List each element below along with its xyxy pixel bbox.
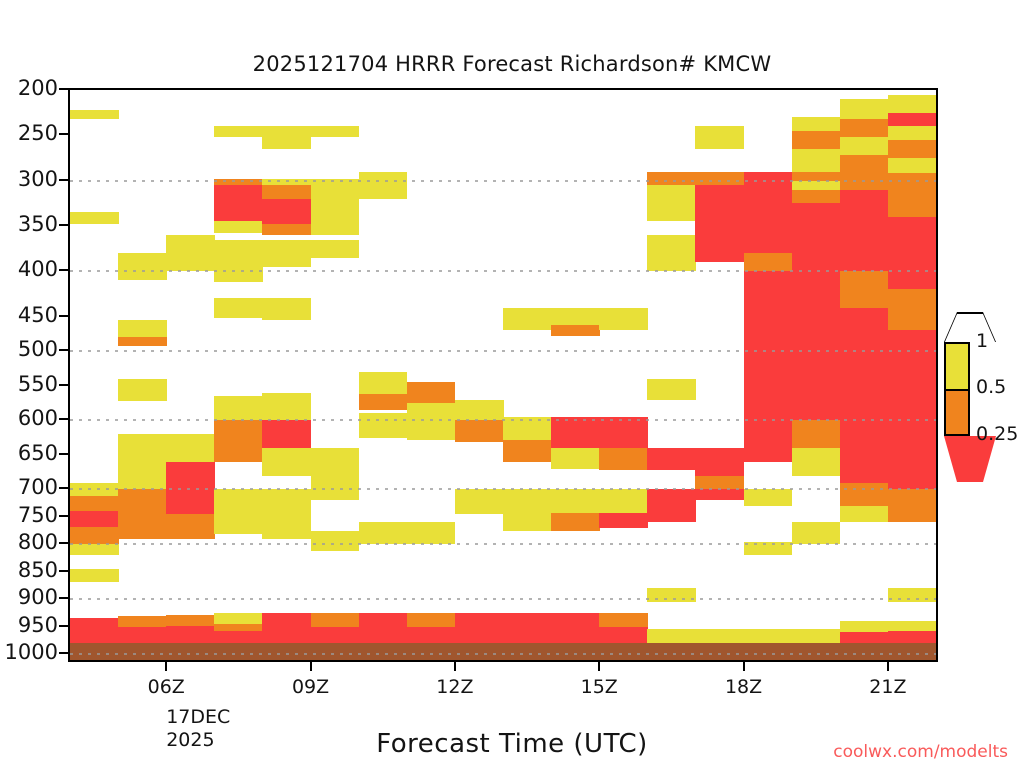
y-axis-tick-mark	[59, 384, 68, 386]
heatmap-cell	[647, 489, 696, 500]
y-axis-tick-mark	[59, 515, 68, 517]
heatmap-cell	[118, 379, 167, 401]
heatmap-cell	[214, 624, 263, 631]
heatmap-cell	[262, 420, 311, 448]
heatmap-cell	[840, 271, 889, 307]
heatmap-cell	[455, 613, 504, 629]
heatmap-cell	[888, 448, 937, 489]
x-axis-tick-mark	[310, 662, 312, 671]
heatmap-cell	[503, 440, 552, 462]
heatmap-cell	[936, 194, 938, 221]
heatmap-cell	[455, 629, 504, 643]
heatmap-cell	[359, 522, 408, 544]
heatmap-cell	[888, 126, 937, 140]
heatmap-cell	[888, 140, 937, 158]
heatmap-cell	[936, 330, 938, 351]
y-axis-tick-mark	[59, 224, 68, 226]
heatmap-cell	[262, 511, 311, 538]
heatmap-cell	[166, 235, 215, 271]
heatmap-cell	[840, 99, 889, 119]
heatmap-cell	[792, 203, 841, 271]
heatmap-cell	[695, 172, 744, 186]
y-axis-tick-mark	[59, 179, 68, 181]
heatmap-cell	[407, 424, 456, 440]
y-axis-tick-label: 250	[18, 121, 58, 145]
x-axis-tick-label: 15Z	[581, 676, 618, 698]
heatmap-cell	[744, 172, 793, 186]
y-axis-tick-label: 350	[18, 212, 58, 236]
heatmap-cell	[359, 372, 408, 394]
heatmap-cell	[888, 621, 937, 631]
x-axis-tick-label: 06Z	[148, 676, 185, 698]
heatmap-cell	[503, 417, 552, 440]
heatmap-cell	[840, 632, 889, 643]
heatmap-cell	[359, 613, 408, 628]
y-axis-tick-mark	[59, 349, 68, 351]
heatmap-cell	[744, 253, 793, 271]
heatmap-cell	[792, 117, 841, 131]
y-axis-tick-mark	[59, 133, 68, 135]
heatmap-cell	[214, 396, 263, 420]
heatmap-cell	[840, 483, 889, 506]
y-axis-tick-mark	[59, 269, 68, 271]
y-axis-tick-label: 650	[18, 441, 58, 465]
heatmap-cell	[936, 621, 938, 629]
page-title: 2025121704 HRRR Forecast Richardson# KMC…	[0, 52, 1024, 76]
x-axis-tick-label: 09Z	[292, 676, 329, 698]
heatmap-cell	[888, 330, 937, 392]
heatmap-cell	[936, 221, 938, 245]
y-axis-tick-mark	[59, 453, 68, 455]
heatmap-cell	[407, 627, 456, 643]
heatmap-cell	[214, 221, 263, 233]
heatmap-cell	[70, 628, 119, 643]
heatmap-cells	[70, 90, 936, 660]
heatmap-cell	[792, 131, 841, 149]
colorbar-label-1: 1	[976, 330, 988, 352]
heatmap-cell	[214, 185, 263, 221]
colorbar-legend: 1 0.5 0.25	[940, 312, 1024, 482]
heatmap-cell	[888, 158, 937, 173]
heatmap-cell	[262, 448, 311, 476]
chart-root: 2025121704 HRRR Forecast Richardson# KMC…	[0, 0, 1024, 768]
x-axis-tick-mark	[887, 662, 889, 671]
heatmap-cell	[503, 506, 552, 531]
heatmap-cell	[647, 185, 696, 221]
y-axis-tick-mark	[59, 542, 68, 544]
y-axis-tick-label: 500	[18, 337, 58, 361]
heatmap-cell	[695, 185, 744, 221]
colorbar-label-05: 0.5	[976, 376, 1006, 398]
y-axis-tick-mark	[59, 315, 68, 317]
heatmap-cell	[70, 511, 119, 526]
heatmap-cell	[599, 417, 648, 448]
heatmap-cell	[888, 217, 937, 290]
heatmap-cell	[936, 276, 938, 308]
heatmap-cell	[214, 509, 263, 535]
heatmap-cell	[503, 489, 552, 505]
y-axis-tick-mark	[59, 487, 68, 489]
heatmap-cell	[792, 448, 841, 476]
heatmap-cell	[262, 613, 311, 627]
colorbar-label-025: 0.25	[976, 423, 1018, 445]
heatmap-cell	[936, 264, 938, 276]
heatmap-cell	[262, 126, 311, 149]
heatmap-cell	[70, 527, 119, 545]
x-axis-tick-mark	[598, 662, 600, 671]
y-axis-tick-label: 400	[18, 257, 58, 281]
heatmap-cell	[744, 489, 793, 505]
heatmap-cell	[503, 308, 552, 331]
heatmap-cell	[888, 489, 937, 505]
heatmap-cell	[744, 224, 793, 253]
heatmap-cell	[936, 393, 938, 448]
heatmap-cell	[840, 393, 889, 448]
heatmap-cell	[407, 403, 456, 424]
heatmap-cell	[359, 413, 408, 437]
heatmap-cell	[647, 235, 696, 271]
heatmap-cell	[695, 489, 744, 500]
heatmap-cell	[70, 496, 119, 511]
heatmap-cell	[840, 308, 889, 331]
heatmap-cell	[214, 489, 263, 508]
heatmap-cell	[888, 631, 937, 643]
heatmap-cell	[888, 506, 937, 522]
heatmap-cell	[311, 448, 360, 476]
heatmap-cell	[407, 522, 456, 544]
heatmap-cell	[455, 400, 504, 421]
heatmap-cell	[118, 337, 167, 345]
heatmap-cell	[407, 613, 456, 627]
heatmap-cell	[166, 434, 215, 462]
heatmap-cell	[359, 628, 408, 643]
heatmap-cell	[840, 448, 889, 483]
heatmap-cell	[551, 489, 600, 512]
heatmap-cell	[936, 173, 938, 194]
x-axis-tick-label: 21Z	[869, 676, 906, 698]
heatmap-cell	[311, 476, 360, 501]
heatmap-cell	[311, 531, 360, 551]
heatmap-cell	[840, 621, 889, 632]
heatmap-cell	[744, 185, 793, 224]
heatmap-cell	[455, 489, 504, 514]
heatmap-cell	[455, 420, 504, 442]
heatmap-cell	[551, 629, 600, 643]
heatmap-cell	[262, 240, 311, 267]
x-axis-tick-mark	[743, 662, 745, 671]
heatmap-cell	[840, 155, 889, 171]
heatmap-cell	[599, 613, 648, 627]
heatmap-cell	[840, 172, 889, 190]
heatmap-cell	[118, 465, 167, 489]
heatmap-cell	[262, 627, 311, 643]
heatmap-cell	[888, 113, 937, 127]
heatmap-cell	[936, 448, 938, 489]
heatmap-cell	[118, 320, 167, 337]
heatmap-cell	[840, 330, 889, 392]
heatmap-cell	[262, 199, 311, 224]
y-axis-tick-mark	[59, 625, 68, 627]
heatmap-cell	[744, 317, 793, 345]
heatmap-cell	[695, 476, 744, 490]
heatmap-cell	[551, 448, 600, 469]
x-axis: 06Z09Z12Z15Z18Z21Z	[68, 662, 942, 692]
y-axis-tick-label: 900	[18, 585, 58, 609]
heatmap-cell	[70, 569, 119, 582]
heatmap-cell	[744, 271, 793, 316]
heatmap-cell	[840, 119, 889, 137]
heatmap-cell	[599, 513, 648, 528]
heatmap-cell	[262, 489, 311, 511]
y-axis-tick-label: 450	[18, 303, 58, 327]
heatmap-cell	[936, 308, 938, 331]
heatmap-cell	[166, 615, 215, 626]
heatmap-cell	[503, 613, 552, 627]
heatmap-cell	[647, 629, 696, 643]
heatmap-cell	[936, 489, 938, 505]
heatmap-cell	[551, 325, 600, 336]
heatmap-cell	[647, 172, 696, 186]
heatmap-cell	[214, 438, 263, 462]
heatmap-cell	[792, 172, 841, 181]
heatmap-cell	[792, 190, 841, 204]
heatmap-cell	[792, 181, 841, 190]
heatmap-cell	[118, 253, 167, 280]
colorbar-segment-orange	[946, 389, 968, 434]
heatmap-cell	[503, 627, 552, 643]
y-axis-tick-mark	[59, 597, 68, 599]
heatmap-cell	[262, 224, 311, 235]
heatmap-cell	[792, 420, 841, 448]
heatmap-cell	[936, 351, 938, 392]
watermark: coolwx.com/modelts	[833, 742, 1008, 762]
y-axis-tick-label: 750	[18, 503, 58, 527]
heatmap-cell	[311, 613, 360, 627]
heatmap-cell	[70, 618, 119, 627]
y-axis-tick-label: 700	[18, 475, 58, 499]
heatmap-cell	[118, 513, 167, 539]
y-axis-tick-mark	[59, 652, 68, 654]
heatmap-cell	[695, 221, 744, 262]
heatmap-cell	[311, 179, 360, 208]
heatmap-cell	[599, 308, 648, 331]
heatmap-cell	[695, 629, 744, 643]
heatmap-cell	[166, 626, 215, 644]
heatmap-cell	[214, 420, 263, 437]
y-axis-tick-mark	[59, 570, 68, 572]
y-axis-tick-label: 950	[18, 613, 58, 637]
y-axis-tick-mark	[59, 88, 68, 90]
heatmap-cell	[311, 240, 360, 258]
heatmap-cell	[551, 513, 600, 531]
heatmap-cell	[118, 616, 167, 627]
y-axis-tick-label: 1000	[5, 640, 58, 664]
heatmap-cell	[359, 394, 408, 410]
heatmap-cell	[744, 542, 793, 556]
heatmap-cell	[70, 483, 119, 496]
heatmap-cell	[695, 448, 744, 476]
heatmap-cell	[792, 271, 841, 351]
heatmap-cell	[551, 417, 600, 448]
heatmap-cell	[599, 489, 648, 512]
heatmap-cell	[840, 506, 889, 522]
y-axis-tick-label: 300	[18, 167, 58, 191]
heatmap-cell	[888, 173, 937, 217]
heatmap-cell	[792, 522, 841, 544]
heatmap-cell	[118, 627, 167, 643]
heatmap-cell	[166, 462, 215, 490]
heatmap-cell	[599, 627, 648, 643]
heatmap-cell	[888, 95, 937, 113]
heatmap-cell	[647, 448, 696, 470]
heatmap-cell	[936, 126, 938, 146]
heatmap-cell	[359, 172, 408, 199]
heatmap-cell	[888, 289, 937, 330]
heatmap-cell	[936, 629, 938, 643]
heatmap-cell	[744, 379, 793, 420]
y-axis-tick-label: 600	[18, 406, 58, 430]
heatmap-cell	[647, 379, 696, 400]
heatmap-cell	[888, 588, 937, 602]
heatmap-cell	[695, 126, 744, 149]
x-axis-tick-mark	[454, 662, 456, 671]
heatmap-cell	[647, 588, 696, 602]
y-axis: 2002503003504004505005506006507007508008…	[0, 88, 68, 664]
heatmap-cell	[166, 514, 215, 539]
x-axis-tick-label: 12Z	[436, 676, 473, 698]
heatmap-cell	[70, 544, 119, 555]
heatmap-cell	[888, 393, 937, 448]
heatmap-cell	[118, 489, 167, 512]
y-axis-tick-label: 200	[18, 76, 58, 100]
heatmap-cell	[551, 308, 600, 325]
heatmap-cell	[744, 629, 793, 643]
heatmap-cell	[840, 137, 889, 155]
heatmap-cell	[792, 149, 841, 172]
heatmap-cell	[214, 298, 263, 318]
heatmap-cell	[262, 393, 311, 421]
y-axis-tick-mark	[59, 418, 68, 420]
colorbar-box	[944, 342, 970, 436]
heatmap-cell	[214, 126, 263, 137]
heatmap-cell	[936, 146, 938, 173]
heatmap-cell	[936, 246, 938, 264]
colorbar-top-arrow	[944, 314, 996, 344]
heatmap-cell	[214, 613, 263, 624]
heatmap-cell	[70, 110, 119, 119]
heatmap-cell	[311, 208, 360, 235]
heatmap-cell	[792, 351, 841, 420]
heatmap-cell	[214, 240, 263, 283]
heatmap-cell	[311, 126, 360, 137]
x-axis-tick-label: 18Z	[725, 676, 762, 698]
heatmap-cell	[647, 500, 696, 522]
heatmap-cell	[840, 190, 889, 272]
heatmap-cell	[936, 90, 938, 106]
heatmap-cell	[166, 489, 215, 514]
x-axis-tick-mark	[165, 662, 167, 671]
y-axis-tick-label: 800	[18, 530, 58, 554]
heatmap-cell	[599, 448, 648, 470]
terrain-band	[70, 643, 936, 660]
y-axis-tick-label: 550	[18, 372, 58, 396]
y-axis-tick-label: 850	[18, 558, 58, 582]
heatmap-cell	[262, 298, 311, 320]
heatmap-cell	[70, 212, 119, 224]
heatmap-cell	[118, 434, 167, 465]
heatmap-cell	[792, 629, 841, 643]
heatmap-cell	[262, 185, 311, 199]
heatmap-cell	[311, 627, 360, 643]
heatmap-cell	[214, 631, 263, 643]
heatmap-cell	[551, 613, 600, 629]
heatmap-cell	[744, 344, 793, 379]
colorbar-segment-yellow	[946, 344, 968, 389]
heatmap-cell	[744, 420, 793, 461]
heatmap-plot-area	[68, 88, 938, 662]
heatmap-cell	[407, 382, 456, 403]
heatmap-cell	[936, 106, 938, 126]
